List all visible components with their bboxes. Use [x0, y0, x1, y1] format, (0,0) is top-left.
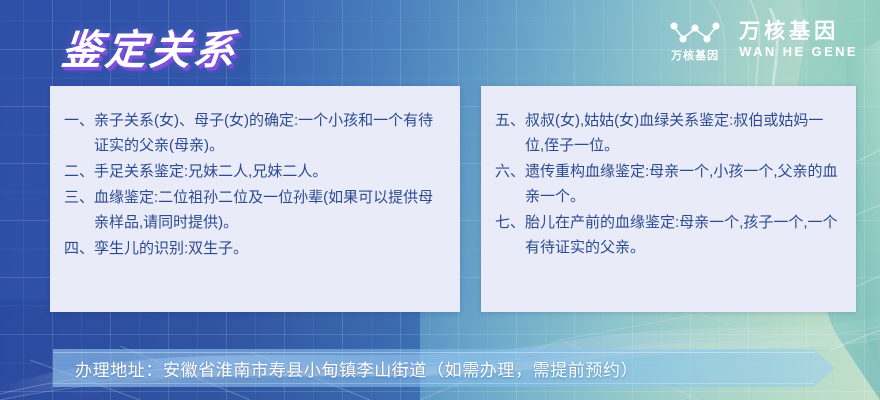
poster-canvas: 鉴定关系 万核基因 万核基因 WAN HE GENE [0, 0, 880, 400]
molecule-network-icon [667, 18, 723, 48]
logo-name-en: WAN HE GENE [739, 45, 858, 59]
address-bar: 办理地址：安徽省淮南市寿县小甸镇李山街道（如需办理，需提前预约） [53, 349, 835, 387]
list-item-number: 三、 [64, 185, 94, 235]
list-item-number: 二、 [64, 159, 94, 184]
page-title: 鉴定关系 [59, 16, 241, 76]
brand-logo: 万核基因 万核基因 WAN HE GENE [667, 18, 858, 62]
list-item: 四、 孪生儿的识别:双生子。 [64, 236, 444, 261]
list-item: 二、 手足关系鉴定:兄妹二人,兄妹二人。 [64, 159, 444, 184]
logo-mark: 万核基因 [667, 18, 723, 62]
list-item-number: 四、 [64, 236, 94, 261]
logo-mark-text: 万核基因 [671, 51, 719, 62]
list-item: 五、 叔叔(女),姑姑(女)血绿关系鉴定:叔伯或姑妈一位,侄子一位。 [495, 108, 840, 158]
info-panel-right: 五、 叔叔(女),姑姑(女)血绿关系鉴定:叔伯或姑妈一位,侄子一位。 六、 遗传… [481, 86, 856, 312]
list-item-number: 七、 [495, 210, 525, 260]
relationship-list-right: 五、 叔叔(女),姑姑(女)血绿关系鉴定:叔伯或姑妈一位,侄子一位。 六、 遗传… [481, 86, 856, 260]
logo-name-cn: 万核基因 [739, 20, 858, 43]
info-panel-left: 一、 亲子关系(女)、母子(女)的确定:一个小孩和一个有待证实的父亲(母亲)。 … [50, 86, 460, 312]
relationship-list-left: 一、 亲子关系(女)、母子(女)的确定:一个小孩和一个有待证实的父亲(母亲)。 … [50, 86, 460, 261]
list-item: 一、 亲子关系(女)、母子(女)的确定:一个小孩和一个有待证实的父亲(母亲)。 [64, 108, 444, 158]
list-item-text: 遗传重构血缘鉴定:母亲一个,小孩一个,父亲的血亲一个。 [525, 159, 840, 209]
list-item-number: 一、 [64, 108, 94, 158]
list-item-number: 五、 [495, 108, 525, 158]
logo-wordmark: 万核基因 WAN HE GENE [739, 20, 858, 59]
list-item: 三、 血缘鉴定:二位祖孙二位及一位孙辈(如果可以提供母亲样品,请同时提供)。 [64, 185, 444, 235]
list-item-number: 六、 [495, 159, 525, 209]
list-item-text: 亲子关系(女)、母子(女)的确定:一个小孩和一个有待证实的父亲(母亲)。 [94, 108, 444, 158]
list-item-text: 孪生儿的识别:双生子。 [94, 236, 444, 261]
list-item-text: 胎儿在产前的血缘鉴定:母亲一个,孩子一个,一个有待证实的父亲。 [525, 210, 840, 260]
list-item-text: 手足关系鉴定:兄妹二人,兄妹二人。 [94, 159, 444, 184]
list-item: 七、 胎儿在产前的血缘鉴定:母亲一个,孩子一个,一个有待证实的父亲。 [495, 210, 840, 260]
address-bar-text: 办理地址：安徽省淮南市寿县小甸镇李山街道（如需办理，需提前预约） [75, 349, 835, 387]
list-item-text: 叔叔(女),姑姑(女)血绿关系鉴定:叔伯或姑妈一位,侄子一位。 [525, 108, 840, 158]
list-item: 六、 遗传重构血缘鉴定:母亲一个,小孩一个,父亲的血亲一个。 [495, 159, 840, 209]
list-item-text: 血缘鉴定:二位祖孙二位及一位孙辈(如果可以提供母亲样品,请同时提供)。 [94, 185, 444, 235]
